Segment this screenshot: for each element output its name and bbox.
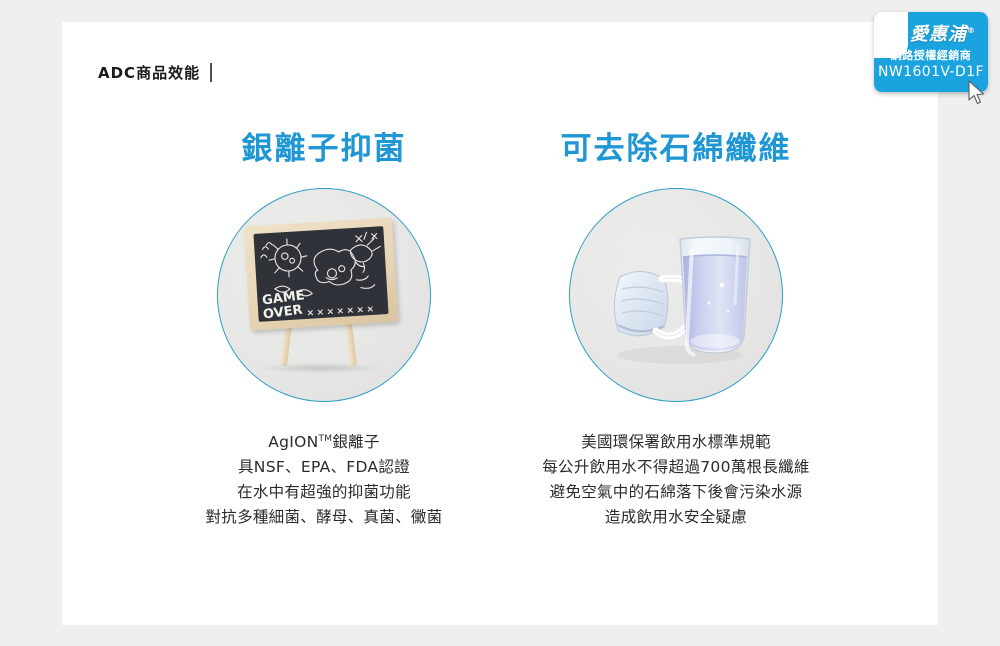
feature-list: 銀離子抑菌 [62,132,938,531]
blackboard-frame: GAME OVER [244,218,398,331]
page-title: ADC商品效能 [98,62,200,83]
caption-trademark-mark: TM [319,434,333,444]
blackboard-surface: GAME OVER [253,226,388,322]
content-card: ADC商品效能 銀離子抑菌 [62,22,938,625]
caption-line-4: 造成飲用水安全疑慮 [542,505,810,530]
easel-shadow [257,362,383,374]
game-over-chalk-text: GAME OVER [261,288,306,322]
feature-caption: AgIONTM銀離子 具NSF、EPA、FDA認證 在水中有超強的抑菌功能 對抗… [205,430,442,530]
registered-trademark-icon: ® [967,26,976,35]
blackboard-easel-image: GAME OVER [217,188,431,402]
caption-line-1: 美國環保署飲用水標準規範 [542,430,810,455]
header-divider [210,63,212,82]
water-glass-icon [680,237,750,355]
caption-silver-ion-text: 銀離子 [332,433,379,451]
caption-line-3: 避免空氣中的石綿落下後會污染水源 [542,480,810,505]
authorized-dealer-badge[interactable]: 愛惠浦® 網路授權經銷商 NW1601V-D1F [868,4,992,95]
badge-body: 愛惠浦® 網路授權經銷商 NW1601V-D1F [874,12,988,92]
section-header: ADC商品效能 [98,62,212,83]
caption-line-2: 每公升飲用水不得超過700萬根長纖維 [542,455,810,480]
feature-heading: 可去除石綿纖維 [561,132,792,166]
chalk-doodles-icon: GAME OVER [253,226,388,322]
badge-subtitle: 網路授權經銷商 [874,47,988,63]
feature-heading: 銀離子抑菌 [242,132,407,166]
mask-and-glass-image [569,188,783,402]
feature-item-asbestos: 可去除石綿纖維 [511,132,841,531]
caption-line-2: 具NSF、EPA、FDA認證 [205,455,442,480]
feature-item-silver-ion: 銀離子抑菌 [159,132,489,531]
badge-model-number: NW1601V-D1F [874,64,988,80]
mask-glass-illustration [588,215,764,375]
caption-line-4: 對抗多種細菌、酵母、真菌、黴菌 [205,505,442,530]
caption-line-3: 在水中有超強的抑菌功能 [205,480,442,505]
caption-agion-text: AgION [268,433,318,451]
badge-brand-text: 愛惠浦 [910,24,967,45]
badge-brand-name: 愛惠浦® [874,20,988,46]
feature-caption: 美國環保署飲用水標準規範 每公升飲用水不得超過700萬根長纖維 避免空氣中的石綿… [542,430,810,530]
caption-line-1: AgIONTM銀離子 [205,430,442,455]
easel-illustration: GAME OVER [239,220,409,370]
